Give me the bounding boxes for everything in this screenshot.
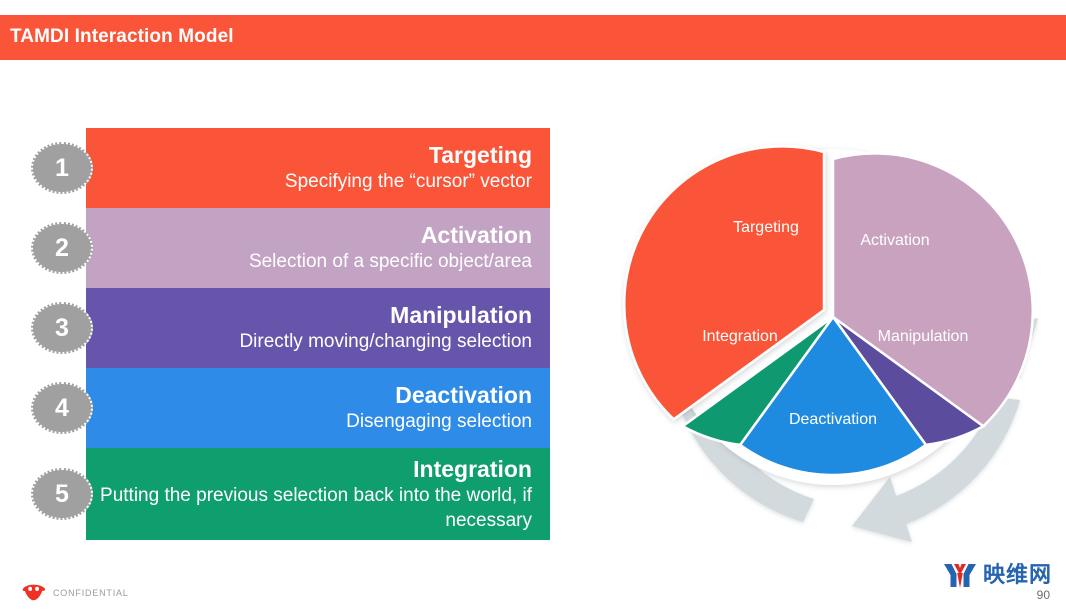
yv-mark-icon [943,562,977,590]
step-row[interactable]: 5IntegrationPutting the previous selecti… [86,448,550,540]
step-description: Selection of a specific object/area [249,249,532,274]
pie-label-integration: Integration [702,328,778,345]
footer-right: 映维网 90 [943,562,1052,602]
page-number: 90 [1037,588,1050,602]
step-title: Deactivation [395,382,532,409]
step-number-badge: 2 [31,222,93,274]
pie-label-activation: Activation [860,232,929,249]
cycle-diagram: Activation Manipulation Deactivation Int… [620,110,1050,550]
step-row[interactable]: 2ActivationSelection of a specific objec… [86,208,550,288]
pie-chart-svg: Activation Manipulation Deactivation Int… [620,110,1050,550]
slide-canvas: TAMDI Interaction Model 1TargetingSpecif… [0,0,1066,614]
step-description: Directly moving/changing selection [239,329,532,354]
step-title: Manipulation [390,302,532,329]
step-number-badge: 3 [31,302,93,354]
pie-label-targeting: Targeting [733,219,799,236]
brand-name: 映维网 [983,565,1052,587]
step-description: Disengaging selection [346,409,532,434]
steps-list: 1TargetingSpecifying the “cursor” vector… [86,128,550,540]
step-title: Activation [421,222,532,249]
step-number-badge: 5 [31,468,93,520]
confidential-label: CONFIDENTIAL [53,588,129,598]
step-number-badge: 1 [31,142,93,194]
page-title: TAMDI Interaction Model [10,26,234,48]
step-row[interactable]: 4DeactivationDisengaging selection [86,368,550,448]
brand-logo: 映维网 [943,562,1052,590]
pie-label-deactivation: Deactivation [789,411,877,428]
red-bird-logo-icon [22,584,46,601]
footer-left: CONFIDENTIAL [22,584,129,601]
step-number-badge: 4 [31,382,93,434]
step-row[interactable]: 3ManipulationDirectly moving/changing se… [86,288,550,368]
step-description: Specifying the “cursor” vector [285,169,532,194]
pie-label-manipulation: Manipulation [878,328,969,345]
step-description: Putting the previous selection back into… [86,483,532,533]
step-title: Targeting [429,142,532,169]
step-title: Integration [413,456,532,483]
step-row[interactable]: 1TargetingSpecifying the “cursor” vector [86,128,550,208]
